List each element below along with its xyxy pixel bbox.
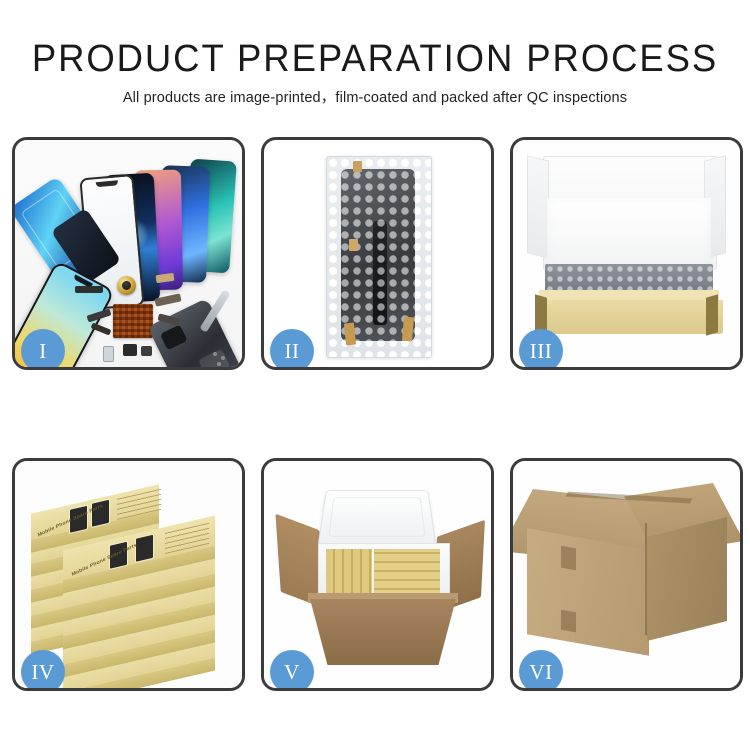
carton-vertical-edge [645, 523, 647, 635]
camera-lens-part [117, 276, 136, 295]
bubble-wrap-bag [326, 156, 432, 358]
foam-lid [318, 490, 437, 546]
page-subtitle: All products are image-printed，film-coat… [0, 89, 750, 107]
copper-board-part [113, 304, 153, 338]
tape-piece [353, 161, 362, 172]
step-badge-3: III [519, 329, 563, 370]
step-badge-4: IV [21, 650, 65, 691]
step-panel-6: VI [510, 458, 743, 691]
carton-tape-upper [561, 546, 576, 571]
process-steps-grid: I II [12, 137, 739, 691]
step-badge-6: VI [519, 650, 563, 691]
carton-side-face [647, 517, 727, 641]
yellow-boxes-inside [326, 549, 440, 597]
yellow-boxes-vertical [326, 549, 372, 597]
speaker-mesh-part [75, 286, 103, 293]
yellow-boxes-horizontal [374, 549, 440, 597]
step-panel-1: I [12, 137, 245, 370]
box-end-right [706, 294, 718, 335]
box-phone-graphic [135, 534, 154, 563]
bubble-texture [327, 157, 431, 357]
carton-front-face [527, 528, 649, 656]
header: PRODUCT PREPARATION PROCESS All products… [0, 0, 750, 107]
tape-piece [349, 239, 358, 251]
carton-body [310, 599, 456, 665]
screws-part [213, 352, 217, 356]
step-panel-3: III [510, 137, 743, 370]
tape-piece [344, 323, 356, 346]
sim-tray-part [103, 346, 114, 362]
step-panel-2: II [261, 137, 494, 370]
page-title: PRODUCT PREPARATION PROCESS [15, 38, 735, 80]
step-panel-5: V [261, 458, 494, 691]
step-panel-4: Mobile Phone Spare Parts Mobile Phone Sp… [12, 458, 245, 691]
carton-tape-lower [561, 610, 576, 633]
box-front-panel [535, 300, 723, 334]
tape-piece [402, 317, 414, 342]
product-preparation-infographic: PRODUCT PREPARATION PROCESS All products… [0, 0, 750, 750]
foam-sheet [547, 198, 711, 270]
box-lid-flap-left [527, 155, 549, 258]
chip-part [141, 346, 152, 356]
step-badge-2: II [270, 329, 314, 370]
chip-part [123, 344, 137, 356]
step-badge-5: V [270, 650, 314, 691]
step-badge-1: I [21, 329, 65, 370]
